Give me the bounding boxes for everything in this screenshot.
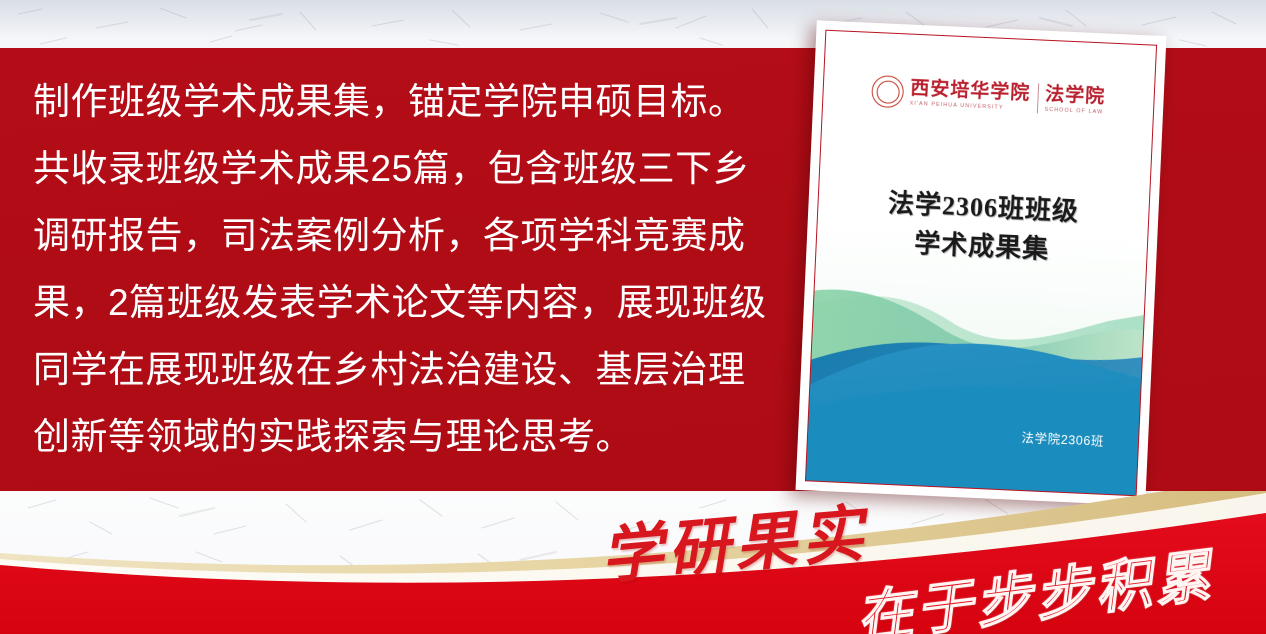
university-name-cn: 西安培华学院 bbox=[910, 79, 1031, 104]
book-page-shadow: 西安培华学院 XI'AN PEIHUA UNIVERSITY 法学院 SCHOO… bbox=[796, 20, 1167, 505]
school-name-block: 法学院 SCHOOL OF LAW bbox=[1044, 85, 1105, 116]
book-class-label: 法学院2306班 bbox=[1021, 427, 1104, 450]
university-logo: 西安培华学院 XI'AN PEIHUA UNIVERSITY 法学院 SCHOO… bbox=[823, 73, 1154, 120]
poster-canvas: 制作班级学术成果集，锚定学院申硕目标。 共收录班级学术成果25篇，包含班级三下乡… bbox=[0, 0, 1266, 634]
footer-band bbox=[0, 491, 1266, 634]
logo-divider bbox=[1036, 83, 1038, 113]
university-name-block: 西安培华学院 XI'AN PEIHUA UNIVERSITY bbox=[910, 79, 1031, 112]
footer-swoosh-artwork bbox=[0, 491, 1266, 634]
book-title: 法学2306班班级 学术成果集 bbox=[816, 181, 1149, 274]
body-copy: 制作班级学术成果集，锚定学院申硕目标。 共收录班级学术成果25篇，包含班级三下乡… bbox=[33, 68, 773, 470]
school-name-cn: 法学院 bbox=[1045, 85, 1106, 108]
book-cover: 西安培华学院 XI'AN PEIHUA UNIVERSITY 法学院 SCHOO… bbox=[796, 20, 1167, 505]
university-seal-icon bbox=[871, 75, 904, 108]
book-cover-face: 西安培华学院 XI'AN PEIHUA UNIVERSITY 法学院 SCHOO… bbox=[805, 30, 1157, 497]
school-name-en: SCHOOL OF LAW bbox=[1044, 107, 1103, 116]
